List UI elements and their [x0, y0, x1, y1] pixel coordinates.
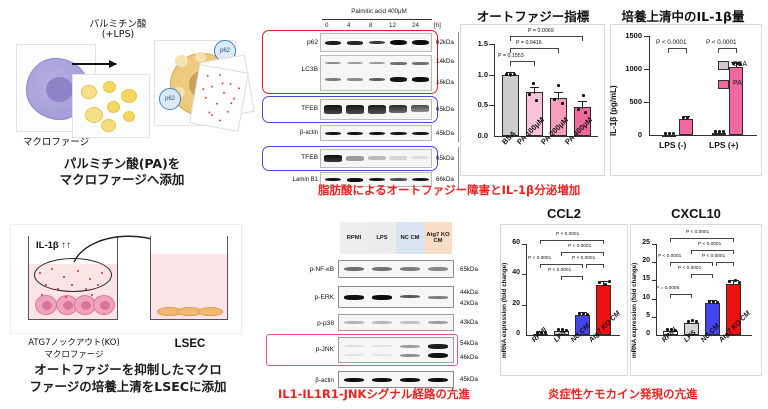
ko-macrophage-label-line2: マクロファージ: [14, 348, 134, 360]
pvalue-ccl2-1: P < 0.0001: [556, 232, 579, 237]
pvalue-autophagy-3: P = 0.0069: [528, 28, 554, 34]
caption-bottom-right-red: 炎症性ケモカイン発現の亢進: [548, 386, 698, 402]
caption-bottom-left-line1: オートファジーを抑制したマクロ: [10, 362, 246, 378]
sig-bracket-il1b-lpsneg: [668, 48, 687, 53]
stimulus-label-line2: (+LPS): [64, 29, 172, 40]
sig-bracket-ccl2-5: [561, 276, 583, 280]
chart-autophagy-index: オートファジー指標 1.5 1.0 0.5 0.0 P = 0.0069 P =: [458, 6, 608, 181]
blot-top-header-rule: [322, 19, 432, 20]
chart-title-il1b: 培養上清中のIL-1β量: [608, 6, 758, 25]
lane-label-0: 0: [325, 22, 328, 29]
lane-label-12: 12: [389, 22, 396, 29]
caption-bottom-left-line2: ファージの培養上清をLSECに添加: [10, 379, 246, 395]
cytokine-sheet-front: [189, 64, 249, 132]
blot-row-label-p62: p62: [266, 39, 318, 46]
blot-col-header-nccm: NC CM: [396, 222, 424, 254]
lipid-droplets-box: [72, 74, 150, 138]
legend-swatch-pa: [718, 80, 729, 89]
schematic-bottom-coculture: IL-1β ↑↑ ATG7ノックアウト(KO) マクロファージ LSEC: [10, 218, 242, 358]
pvalue-ccl2-5: P < 0.0001: [548, 268, 571, 273]
pvalue-ccl2-3: P < 0.0001: [528, 256, 551, 261]
pvalue-cxcl10-3: P < 0.0001: [658, 254, 681, 259]
western-blot-bottom: RPMI LPS NC CM Atg7 KO CM p-NF-κB 65kDa …: [262, 222, 458, 382]
blot-band-row-tfeb-nucleus: [320, 149, 432, 168]
blot-kda-tfeb-nucleus: 65kDa: [436, 155, 454, 162]
lane-label-4: 4: [347, 22, 350, 29]
blot-row-label-tfeb-nucleus: TFEB: [266, 154, 318, 161]
caption-top-red: 脂肪酸によるオートファジー障害とIL-1β分泌増加: [318, 182, 580, 198]
ytick-ccl2-60: 60: [498, 239, 520, 246]
lane-label-8: 8: [369, 22, 372, 29]
ytick-ccl2-20: 20: [498, 300, 520, 307]
blot-kda-bactin-top: 45kDa: [436, 130, 454, 137]
western-blot-top: Palmitic acid 400μM 0 4 8 12 24 [h] p62 …: [262, 8, 454, 180]
schematic-top-macrophage: マクロファージ パルミチン酸 (+LPS) p62 p62: [8, 16, 246, 166]
blot-kda-tfeb-lysate: 65kDa: [436, 106, 454, 113]
blot-kda-lc3b-14: 14kDa: [436, 58, 454, 65]
blot-col-header-atg7kocm: Atg7 KO CM: [424, 222, 452, 254]
blot-row-label-laminb1: Lamin B1: [262, 177, 318, 183]
figure-root: マクロファージ パルミチン酸 (+LPS) p62 p62: [0, 0, 768, 409]
blot-band-row-p62: [320, 33, 432, 52]
ytick-cxcl10-15: 15: [628, 275, 650, 282]
blot-band-row-tfeb-lysate: [320, 99, 432, 120]
sig-bracket-ccl2-4: [586, 264, 604, 268]
y-axis-il1b: [649, 36, 650, 136]
pvalue-cxcl10-4: P < 0.0001: [702, 254, 725, 259]
ylabel-il1b: IL-1β (pg/mL): [609, 48, 618, 136]
blot-top-header: Palmitic acid 400μM: [320, 8, 438, 15]
blot-band-row-pnfkb: [338, 260, 454, 278]
ytick-ccl2-40: 40: [498, 269, 520, 276]
legend-label-bsa: BSA: [733, 61, 747, 68]
ko-macrophage-label-line1: ATG7ノックアウト(KO): [14, 336, 134, 348]
sig-bracket-cxcl10-4: [716, 262, 734, 266]
ytick-cxcl10-10: 10: [628, 294, 650, 301]
right-arrow-icon: [72, 63, 116, 65]
blot-row-label-perk: p-ERK: [278, 294, 334, 301]
chart-title-cxcl10: CXCL10: [628, 206, 764, 221]
blot-kda-pjnk-46: 46kDa: [460, 354, 478, 361]
bar-bsa: [502, 75, 519, 136]
pvalue-ccl2-4: P < 0.0001: [572, 256, 595, 261]
blot-row-label-bactin-top: β-actin: [264, 130, 318, 136]
blot-band-row-lc3b: [320, 55, 432, 91]
pvalue-autophagy-2: P = 0.0416: [516, 40, 542, 46]
lsec-well: [150, 236, 228, 320]
il1b-increase-label: IL-1β ↑↑: [36, 240, 71, 251]
chart-il1b-supernatant: 培養上清中のIL-1β量 IL-1β (pg/mL) 1500 1000 500…: [608, 6, 766, 181]
bar-lpsneg-pa: [679, 119, 693, 135]
bar-lpspos-bsa: [712, 133, 726, 135]
bar-lpsneg-bsa: [662, 135, 676, 137]
pvalue-ccl2-2: P < 0.0001: [568, 244, 591, 249]
sig-bracket-cxcl10-6: [670, 294, 692, 298]
blot-kda-pnfkb: 65kDa: [460, 266, 478, 273]
blot-row-label-pp38: p-p38: [278, 320, 334, 327]
blot-row-label-pjnk: p-JNK: [278, 346, 334, 353]
blot-row-label-pnfkb: p-NF-κB: [272, 266, 334, 273]
chart-cxcl10: CXCL10 mRNA expression (fold change) 25 …: [628, 206, 764, 384]
legend-label-pa: PA: [733, 80, 742, 87]
xtick-il1b-lpspos: LPS (+): [709, 140, 739, 150]
lsec-label: LSEC: [152, 338, 228, 350]
ytick-autophagy-0_0: 0.0: [460, 131, 488, 140]
chart-title-autophagy: オートファジー指標: [458, 6, 608, 25]
pvalue-autophagy-1: P = 0.1553: [498, 53, 524, 59]
ytick-cxcl10-25: 25: [628, 239, 650, 246]
pvalue-cxcl10-1: P < 0.0001: [686, 230, 709, 235]
sig-bracket-cxcl10-5: [691, 274, 713, 278]
ytick-il1b-1000: 1000: [614, 64, 642, 73]
blot-col-header-rpmi: RPMI: [340, 222, 368, 254]
p62-tag-icon-2: p62: [159, 88, 181, 110]
blot-band-row-pjnk: [338, 337, 454, 363]
ytick-autophagy-0_5: 0.5: [460, 100, 488, 109]
blot-row-label-tfeb-lysate: TFEB: [266, 105, 318, 112]
blot-row-label-lc3b: LC3B: [262, 66, 318, 73]
chart-title-ccl2: CCL2: [498, 206, 630, 221]
xtick-il1b-lpsneg: LPS (-): [659, 140, 686, 150]
pvalue-il1b-lpsneg: P < 0.0001: [656, 39, 687, 46]
blot-kda-p62: 62kDa: [436, 39, 454, 46]
y-axis-autophagy: [494, 44, 495, 137]
blot-kda-bactin-bottom: 45kDa: [460, 376, 478, 383]
ytick-cxcl10-0: 0: [628, 330, 650, 337]
caption-top-left-line2: マクロファージへ添加: [22, 172, 222, 188]
ytick-cxcl10-20: 20: [628, 257, 650, 264]
ytick-cxcl10-5: 5: [628, 312, 650, 319]
blot-kda-lc3b-16: 16kDa: [436, 79, 454, 86]
pvalue-il1b-lpspos: P < 0.0001: [706, 39, 737, 46]
blot-kda-pp38: 43kDa: [460, 319, 478, 326]
ytick-il1b-1500: 1500: [614, 31, 642, 40]
sig-bracket-autophagy-1: [510, 61, 535, 66]
blot-band-row-pp38: [338, 314, 454, 331]
legend-swatch-bsa: [718, 61, 729, 70]
ytick-autophagy-1_5: 1.5: [460, 39, 488, 48]
ytick-autophagy-1_0: 1.0: [460, 70, 488, 79]
ytick-ccl2-0: 0: [498, 330, 520, 337]
blot-kda-perk-42: 42kDa: [460, 300, 478, 307]
chart-ccl2: CCL2 mRNA expression (fold change) 60 40…: [498, 206, 630, 384]
pvalue-cxcl10-2: P < 0.0001: [698, 242, 721, 247]
stimulus-label-line1: パルミチン酸: [64, 16, 172, 30]
bar-lpspos-pa: [729, 67, 743, 135]
blot-band-row-perk: [338, 286, 454, 308]
lane-label-24: 24: [412, 22, 419, 29]
ytick-il1b-0: 0: [614, 130, 642, 139]
pvalue-cxcl10-6: P = 0.0005: [656, 286, 679, 291]
sig-bracket-il1b-lpspos: [718, 48, 737, 53]
blot-col-header-lps: LPS: [368, 222, 396, 254]
pvalue-cxcl10-5: P < 0.0001: [678, 266, 701, 271]
ytick-il1b-500: 500: [614, 97, 642, 106]
blot-kda-pjnk-54: 54kDa: [460, 340, 478, 347]
caption-bottom-mid-red: IL1-IL1R1-JNKシグナル経路の亢進: [278, 386, 470, 402]
blot-row-label-bactin-bottom: β-actin: [276, 377, 334, 384]
lane-unit-label: [h]: [434, 22, 441, 29]
blot-band-row-bactin-top: [320, 125, 432, 141]
blot-kda-perk-44: 44kDa: [460, 289, 478, 296]
caption-top-left-line1: パルミチン酸(PA)を: [22, 156, 222, 172]
